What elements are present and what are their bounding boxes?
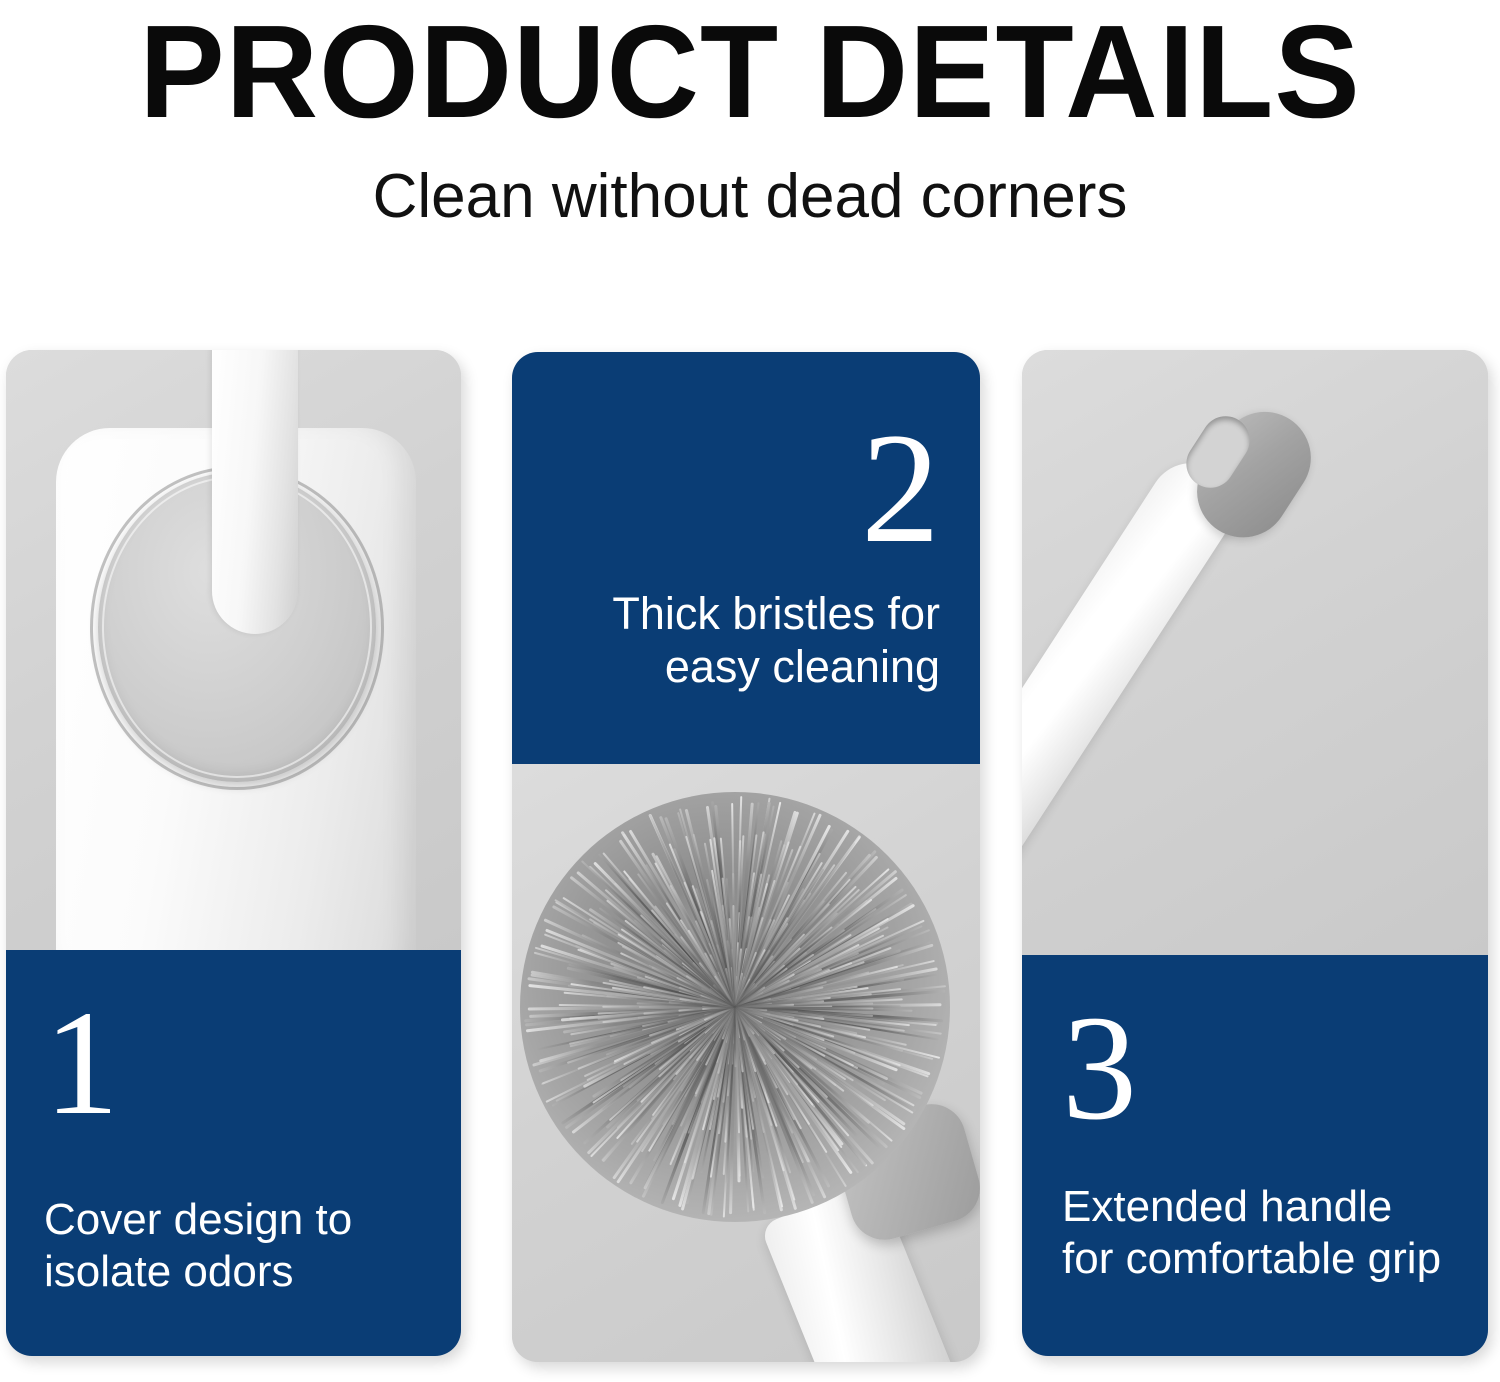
feature-panel-3: 3 Extended handle for comfortable grip [1022, 350, 1488, 1356]
product-photo-holder [6, 350, 461, 950]
page-subtitle: Clean without dead corners [0, 138, 1500, 228]
feature-caption-3: 3 Extended handle for comfortable grip [1022, 955, 1488, 1356]
step-number-1: 1 [44, 994, 423, 1132]
step-text-2: Thick bristles for easy cleaning [552, 587, 940, 693]
page-header: PRODUCT DETAILS Clean without dead corne… [0, 0, 1500, 228]
bristle-group [520, 792, 950, 1222]
feature-panels: 1 Cover design to isolate odors 2 Thick … [0, 350, 1500, 1370]
feature-caption-2: 2 Thick bristles for easy cleaning [512, 352, 980, 764]
step-number-3: 3 [1062, 999, 1448, 1137]
product-photo-bristles [512, 764, 980, 1362]
page-title: PRODUCT DETAILS [23, 0, 1478, 138]
product-photo-handle [1022, 350, 1488, 955]
brush-illustration [512, 764, 980, 1362]
feature-panel-1: 1 Cover design to isolate odors [6, 350, 461, 1356]
step-number-2: 2 [552, 352, 940, 561]
feature-caption-1: 1 Cover design to isolate odors [6, 950, 461, 1356]
feature-panel-2: 2 Thick bristles for easy cleaning [512, 352, 980, 1362]
step-text-1: Cover design to isolate odors [44, 1194, 423, 1298]
holder-stem-shape [212, 350, 298, 634]
step-text-3: Extended handle for comfortable grip [1062, 1181, 1448, 1285]
